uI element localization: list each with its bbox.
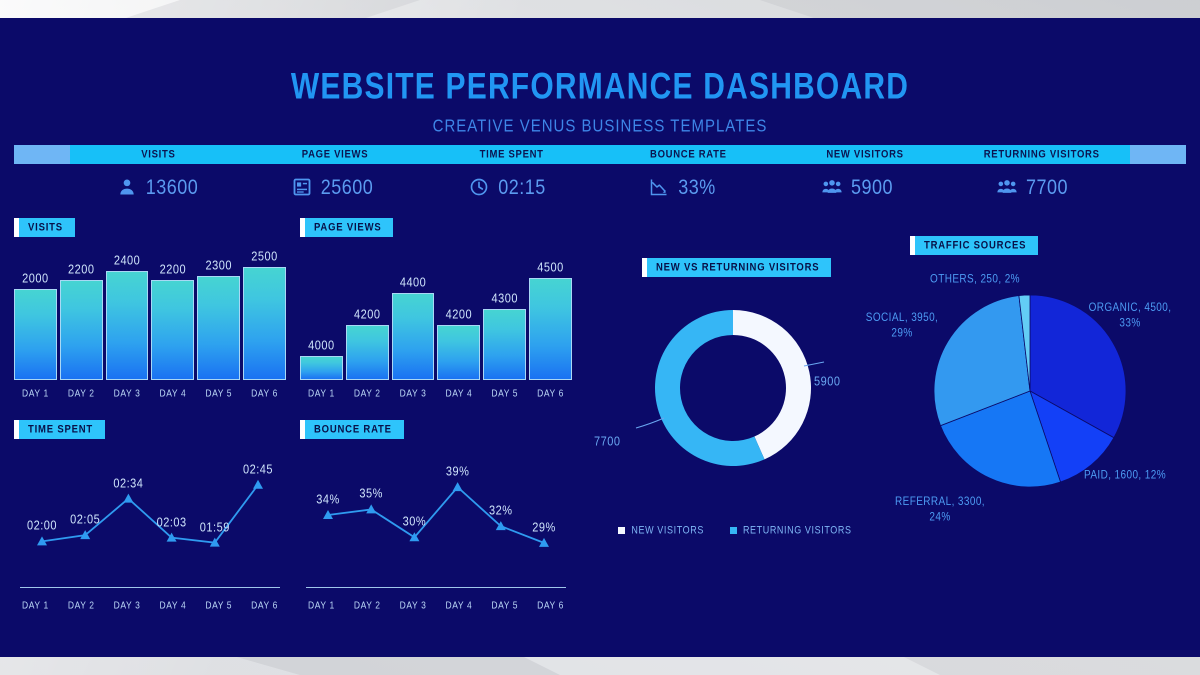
panel-label-new-vs-returning: NEW VS RETURNING VISITORS	[642, 258, 831, 277]
bar-value-label: 2400	[114, 254, 140, 268]
bar-column: 2200	[151, 262, 194, 380]
time-spent-plot: 02:0002:0502:3402:0301:5902:45	[14, 442, 286, 572]
bar-value-label: 4000	[308, 340, 334, 354]
bar-value-label: 2200	[160, 263, 186, 277]
data-point-marker	[453, 482, 463, 491]
bar-column: 4200	[346, 262, 389, 380]
pie-callout-others: OTHERS, 250, 2%	[930, 273, 1020, 288]
person-icon	[117, 177, 137, 197]
bar-value-label: 2000	[22, 272, 48, 286]
kpi-page-views-value: 25600	[321, 174, 374, 199]
donut-callout-new: 5900	[814, 375, 840, 389]
data-point-label: 29%	[532, 521, 556, 535]
visits-axis-labels: DAY 1DAY 2DAY 3DAY 4DAY 5DAY 6	[14, 388, 286, 398]
legend-item-returning-visitors[interactable]: RETURNING VISITORS	[730, 525, 852, 535]
axis-tick-label: DAY 2	[346, 599, 389, 611]
axis-tick-label: DAY 4	[151, 599, 194, 611]
bar-column: 4000	[300, 262, 343, 380]
bounce-rate-axis-labels: DAY 1DAY 2DAY 3DAY 4DAY 5DAY 6	[300, 600, 572, 610]
axis-tick-label: DAY 4	[151, 387, 194, 399]
data-point-label: 02:45	[243, 463, 273, 477]
bar-column: 2000	[14, 262, 57, 380]
kpi-page-views: 25600	[245, 168, 420, 206]
axis-tick-label: DAY 5	[197, 599, 240, 611]
kpi-bar-left-cap	[14, 145, 70, 164]
declining-chart-icon	[649, 177, 669, 197]
bar: 2000	[14, 289, 57, 380]
bar-value-label: 2200	[68, 263, 94, 277]
kpi-header-time-spent: TIME SPENT	[423, 143, 600, 166]
bottom-texture	[0, 655, 1200, 675]
bar-column: 2300	[197, 262, 240, 380]
pie-callout-social: SOCIAL, 3950, 29%	[857, 312, 947, 342]
legend-label-new: NEW VISITORS	[631, 524, 704, 536]
kpi-bar-right-cap	[1130, 145, 1186, 164]
kpi-new-visitors: 5900	[770, 168, 945, 206]
bar: 4500	[529, 278, 572, 380]
bar-column: 4500	[529, 262, 572, 380]
axis-tick-label: DAY 2	[60, 599, 103, 611]
bar-value-label: 2500	[251, 250, 277, 264]
axis-tick-label: DAY 2	[346, 387, 389, 399]
panel-visits: VISITS 200022002400220023002500 DAY 1DAY…	[14, 218, 286, 398]
bar: 2200	[151, 280, 194, 380]
time-spent-baseline	[20, 587, 280, 588]
kpi-header-page-views: PAGE VIEWS	[247, 143, 424, 166]
kpi-header-bar: VISITS PAGE VIEWS TIME SPENT BOUNCE RATE…	[14, 145, 1186, 164]
legend-item-new-visitors[interactable]: NEW VISITORS	[618, 525, 704, 535]
line-series-svg	[14, 442, 286, 572]
kpi-visits: 13600	[70, 168, 245, 206]
bar-value-label: 4400	[400, 277, 426, 291]
bar: 2500	[243, 267, 286, 380]
page-views-axis-labels: DAY 1DAY 2DAY 3DAY 4DAY 5DAY 6	[300, 388, 572, 398]
bar: 2400	[106, 271, 149, 380]
bar-value-label: 4500	[537, 261, 563, 275]
data-point-label: 02:03	[157, 516, 187, 530]
pie-callout-paid: PAID, 1600, 12%	[1084, 469, 1166, 484]
axis-tick-label: DAY 4	[437, 599, 480, 611]
data-point-marker	[366, 504, 376, 513]
panel-page-views: PAGE VIEWS 400042004400420043004500 DAY …	[300, 218, 572, 398]
legend-label-returning: RETURNING VISITORS	[743, 524, 852, 536]
panel-label-time-spent: TIME SPENT	[14, 420, 105, 439]
axis-tick-label: DAY 1	[300, 599, 343, 611]
data-point-label: 35%	[359, 488, 383, 502]
bar-value-label: 2300	[205, 259, 231, 273]
bar-column: 2200	[60, 262, 103, 380]
data-point-marker	[123, 494, 133, 503]
bar-value-label: 4200	[446, 308, 472, 322]
page-subtitle: CREATIVE VENUS BUSINESS TEMPLATES	[0, 117, 1200, 137]
pie-callout-organic: ORGANIC, 4500, 33%	[1085, 302, 1175, 332]
page-views-plot: 400042004400420043004500 DAY 1DAY 2DAY 3…	[300, 248, 572, 398]
axis-tick-label: DAY 3	[106, 599, 149, 611]
kpi-header-track: VISITS PAGE VIEWS TIME SPENT BOUNCE RATE…	[70, 145, 1130, 164]
axis-tick-label: DAY 1	[14, 599, 57, 611]
kpi-bounce-rate-value: 33%	[678, 174, 716, 199]
donut-slice[interactable]	[733, 310, 811, 459]
data-point-label: 34%	[316, 493, 340, 507]
axis-tick-label: DAY 6	[529, 387, 572, 399]
axis-tick-label: DAY 6	[243, 387, 286, 399]
bounce-rate-baseline	[306, 587, 566, 588]
panel-traffic-sources: TRAFFIC SOURCES OTHERS, 250, 2% ORGANIC,…	[880, 236, 1180, 536]
kpi-time-spent-value: 02:15	[498, 174, 546, 199]
page-icon	[292, 177, 312, 197]
line-series-svg	[300, 442, 572, 572]
bar: 2200	[60, 280, 103, 380]
axis-tick-label: DAY 3	[106, 387, 149, 399]
bar-column: 4300	[483, 262, 526, 380]
axis-tick-label: DAY 6	[243, 599, 286, 611]
kpi-header-bounce-rate: BOUNCE RATE	[600, 143, 777, 166]
clock-icon	[469, 177, 489, 197]
data-point-label: 02:34	[113, 477, 143, 491]
time-spent-axis-labels: DAY 1DAY 2DAY 3DAY 4DAY 5DAY 6	[14, 600, 286, 610]
bar: 2300	[197, 276, 240, 380]
bar-value-label: 4200	[354, 308, 380, 322]
bar: 4300	[483, 309, 526, 380]
data-point-label: 39%	[446, 465, 470, 479]
axis-tick-label: DAY 4	[437, 387, 480, 399]
group-icon	[822, 177, 842, 197]
data-point-label: 02:00	[27, 520, 57, 534]
group-icon	[997, 177, 1017, 197]
kpi-header-new-visitors: NEW VISITORS	[777, 143, 954, 166]
donut-legend: NEW VISITORS RETURNING VISITORS	[600, 525, 870, 535]
panel-label-bounce-rate: BOUNCE RATE	[300, 420, 404, 439]
page-title: WEBSITE PERFORMANCE DASHBOARD	[0, 66, 1200, 109]
axis-tick-label: DAY 5	[483, 599, 526, 611]
kpi-bounce-rate: 33%	[595, 168, 770, 206]
axis-tick-label: DAY 5	[483, 387, 526, 399]
kpi-returning-visitors: 7700	[945, 168, 1120, 206]
bar: 4400	[392, 293, 435, 380]
kpi-header-returning-visitors: RETURNING VISITORS	[953, 143, 1130, 166]
page-views-bars: 400042004400420043004500	[300, 262, 572, 380]
panel-new-vs-returning: NEW VS RETURNING VISITORS 5900 7700 NEW …	[600, 258, 870, 533]
bar-column: 4400	[392, 262, 435, 380]
bar-column: 4200	[437, 262, 480, 380]
bar-column: 2500	[243, 262, 286, 380]
donut-callout-returning: 7700	[594, 435, 620, 449]
kpi-new-visitors-value: 5900	[851, 174, 893, 199]
bar: 4000	[300, 356, 343, 380]
legend-swatch-returning	[730, 527, 737, 534]
axis-tick-label: DAY 5	[197, 387, 240, 399]
panel-label-traffic-sources: TRAFFIC SOURCES	[910, 236, 1038, 255]
axis-tick-label: DAY 1	[14, 387, 57, 399]
pie-callout-referral: REFERRAL, 3300, 24%	[893, 496, 988, 526]
panel-bounce-rate: BOUNCE RATE 34%35%30%39%32%29% DAY 1DAY …	[300, 420, 572, 610]
data-point-label: 01:59	[200, 521, 230, 535]
panel-label-page-views: PAGE VIEWS	[300, 218, 393, 237]
kpi-values-row: 13600 25600 02:15 33	[70, 168, 1120, 206]
panel-time-spent: TIME SPENT 02:0002:0502:3402:0301:5902:4…	[14, 420, 286, 610]
donut-leader-line	[636, 418, 664, 428]
bounce-rate-plot: 34%35%30%39%32%29%	[300, 442, 572, 572]
kpi-visits-value: 13600	[146, 174, 199, 199]
data-point-label: 32%	[489, 504, 513, 518]
data-point-label: 02:05	[70, 513, 100, 527]
top-texture	[0, 0, 1200, 20]
bar-column: 2400	[106, 262, 149, 380]
panel-label-visits: VISITS	[14, 218, 75, 237]
visits-bars: 200022002400220023002500	[14, 262, 286, 380]
donut-chart: 5900 7700	[618, 288, 848, 488]
data-point-label: 30%	[403, 515, 427, 529]
kpi-returning-visitors-value: 7700	[1026, 174, 1068, 199]
axis-tick-label: DAY 1	[300, 387, 343, 399]
kpi-header-visits: VISITS	[70, 143, 247, 166]
axis-tick-label: DAY 2	[60, 387, 103, 399]
axis-tick-label: DAY 6	[529, 599, 572, 611]
visits-plot: 200022002400220023002500 DAY 1DAY 2DAY 3…	[14, 248, 286, 398]
bar: 4200	[437, 325, 480, 380]
axis-tick-label: DAY 3	[392, 599, 435, 611]
bar-value-label: 4300	[491, 292, 517, 306]
axis-tick-label: DAY 3	[392, 387, 435, 399]
bar: 4200	[346, 325, 389, 380]
kpi-time-spent: 02:15	[420, 168, 595, 206]
dashboard-canvas: WEBSITE PERFORMANCE DASHBOARD CREATIVE V…	[0, 18, 1200, 657]
data-point-marker	[253, 480, 263, 489]
legend-swatch-new	[618, 527, 625, 534]
